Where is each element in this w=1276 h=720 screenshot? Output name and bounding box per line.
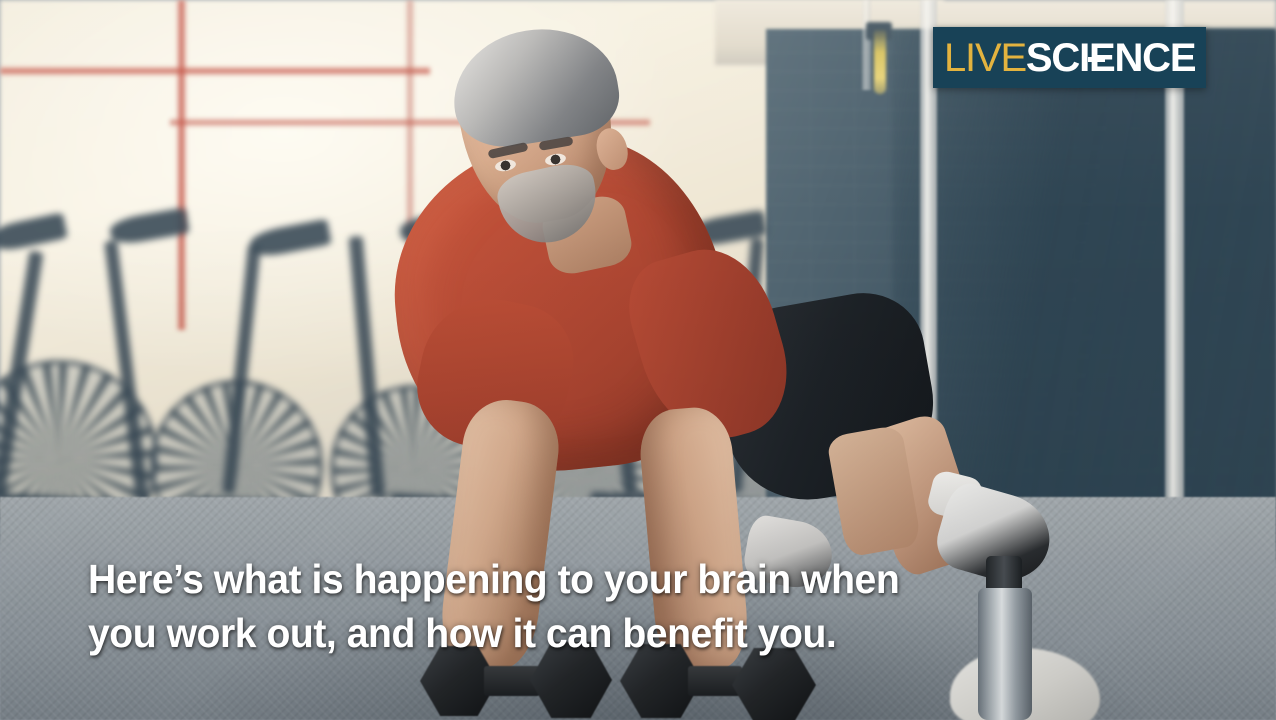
logo-wordmark: LIVESCIENCE	[944, 38, 1195, 78]
water-bottle	[978, 588, 1032, 720]
logo-word-science: SCIENCE	[1026, 38, 1195, 78]
video-frame: LIVESCIENCE Here’s what is happening to …	[0, 0, 1276, 720]
livescience-logo[interactable]: LIVESCIENCE	[933, 27, 1206, 88]
logo-word-live: LIVE	[944, 38, 1026, 78]
video-caption: Here’s what is happening to your brain w…	[88, 552, 948, 660]
logo-stylized-e-bar	[1088, 57, 1105, 62]
dumbbell-bar	[688, 666, 742, 696]
logo-word-science-text: SCIENCE	[1026, 36, 1195, 80]
